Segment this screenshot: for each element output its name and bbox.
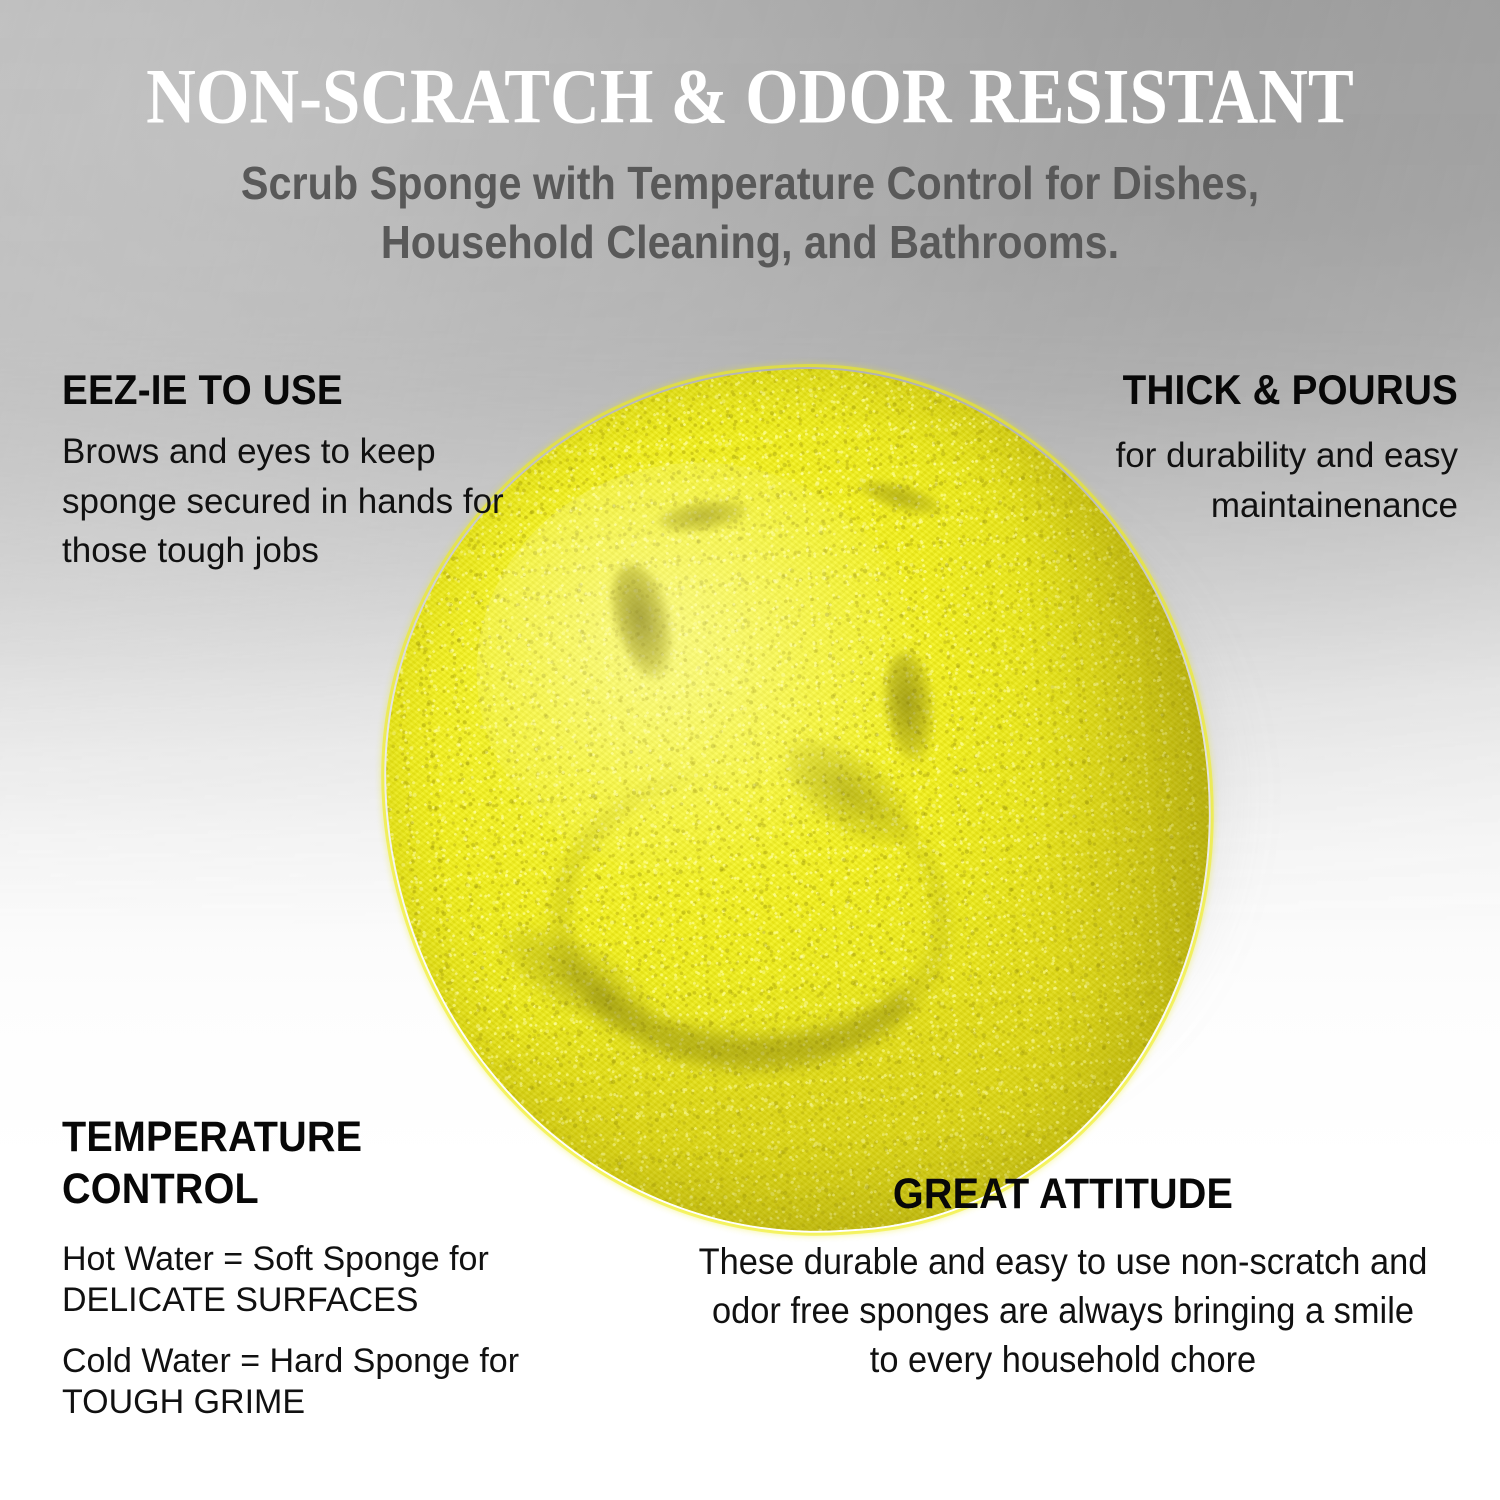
product-infographic: NON-SCRATCH & ODOR RESISTANT Scrub Spong… — [0, 0, 1500, 1500]
feature-body-temperature-control: Hot Water = Soft Sponge for DELICATE SUR… — [62, 1239, 622, 1422]
feature-body-thick-and-pourus: for durability and easy maintainenance — [988, 431, 1458, 530]
feature-title-eez-ie-to-use: EEZ-IE TO USE — [62, 366, 494, 413]
feature-title-temperature-control-line-1: TEMPERATURE — [62, 1112, 577, 1164]
feature-block-great-attitude: GREAT ATTITUDE These durable and easy to… — [668, 1170, 1458, 1385]
feature-body-cold-water: Cold Water = Hard Sponge for TOUGH GRIME — [62, 1341, 622, 1423]
feature-title-great-attitude: GREAT ATTITUDE — [700, 1170, 1427, 1218]
header: NON-SCRATCH & ODOR RESISTANT Scrub Spong… — [0, 58, 1500, 272]
page-title: NON-SCRATCH & ODOR RESISTANT — [53, 58, 1448, 136]
feature-body-great-attitude: These durable and easy to use non-scratc… — [696, 1238, 1431, 1384]
feature-block-eez-ie-to-use: EEZ-IE TO USE Brows and eyes to keep spo… — [62, 366, 532, 576]
feature-block-temperature-control: TEMPERATURE CONTROL Hot Water = Soft Spo… — [62, 1112, 622, 1422]
feature-title-temperature-control: TEMPERATURE CONTROL — [62, 1112, 577, 1215]
page-subtitle-line-1: Scrub Sponge with Temperature Control fo… — [111, 154, 1389, 213]
feature-title-thick-and-pourus: THICK & POURUS — [1026, 366, 1458, 413]
feature-body-eez-ie-to-use: Brows and eyes to keep sponge secured in… — [62, 427, 532, 576]
page-subtitle-line-2: Household Cleaning, and Bathrooms. — [111, 213, 1389, 272]
feature-block-thick-and-pourus: THICK & POURUS for durability and easy m… — [988, 366, 1458, 530]
page-subtitle: Scrub Sponge with Temperature Control fo… — [75, 154, 1425, 272]
feature-body-hot-water: Hot Water = Soft Sponge for DELICATE SUR… — [62, 1239, 622, 1321]
feature-title-temperature-control-line-2: CONTROL — [62, 1164, 577, 1216]
